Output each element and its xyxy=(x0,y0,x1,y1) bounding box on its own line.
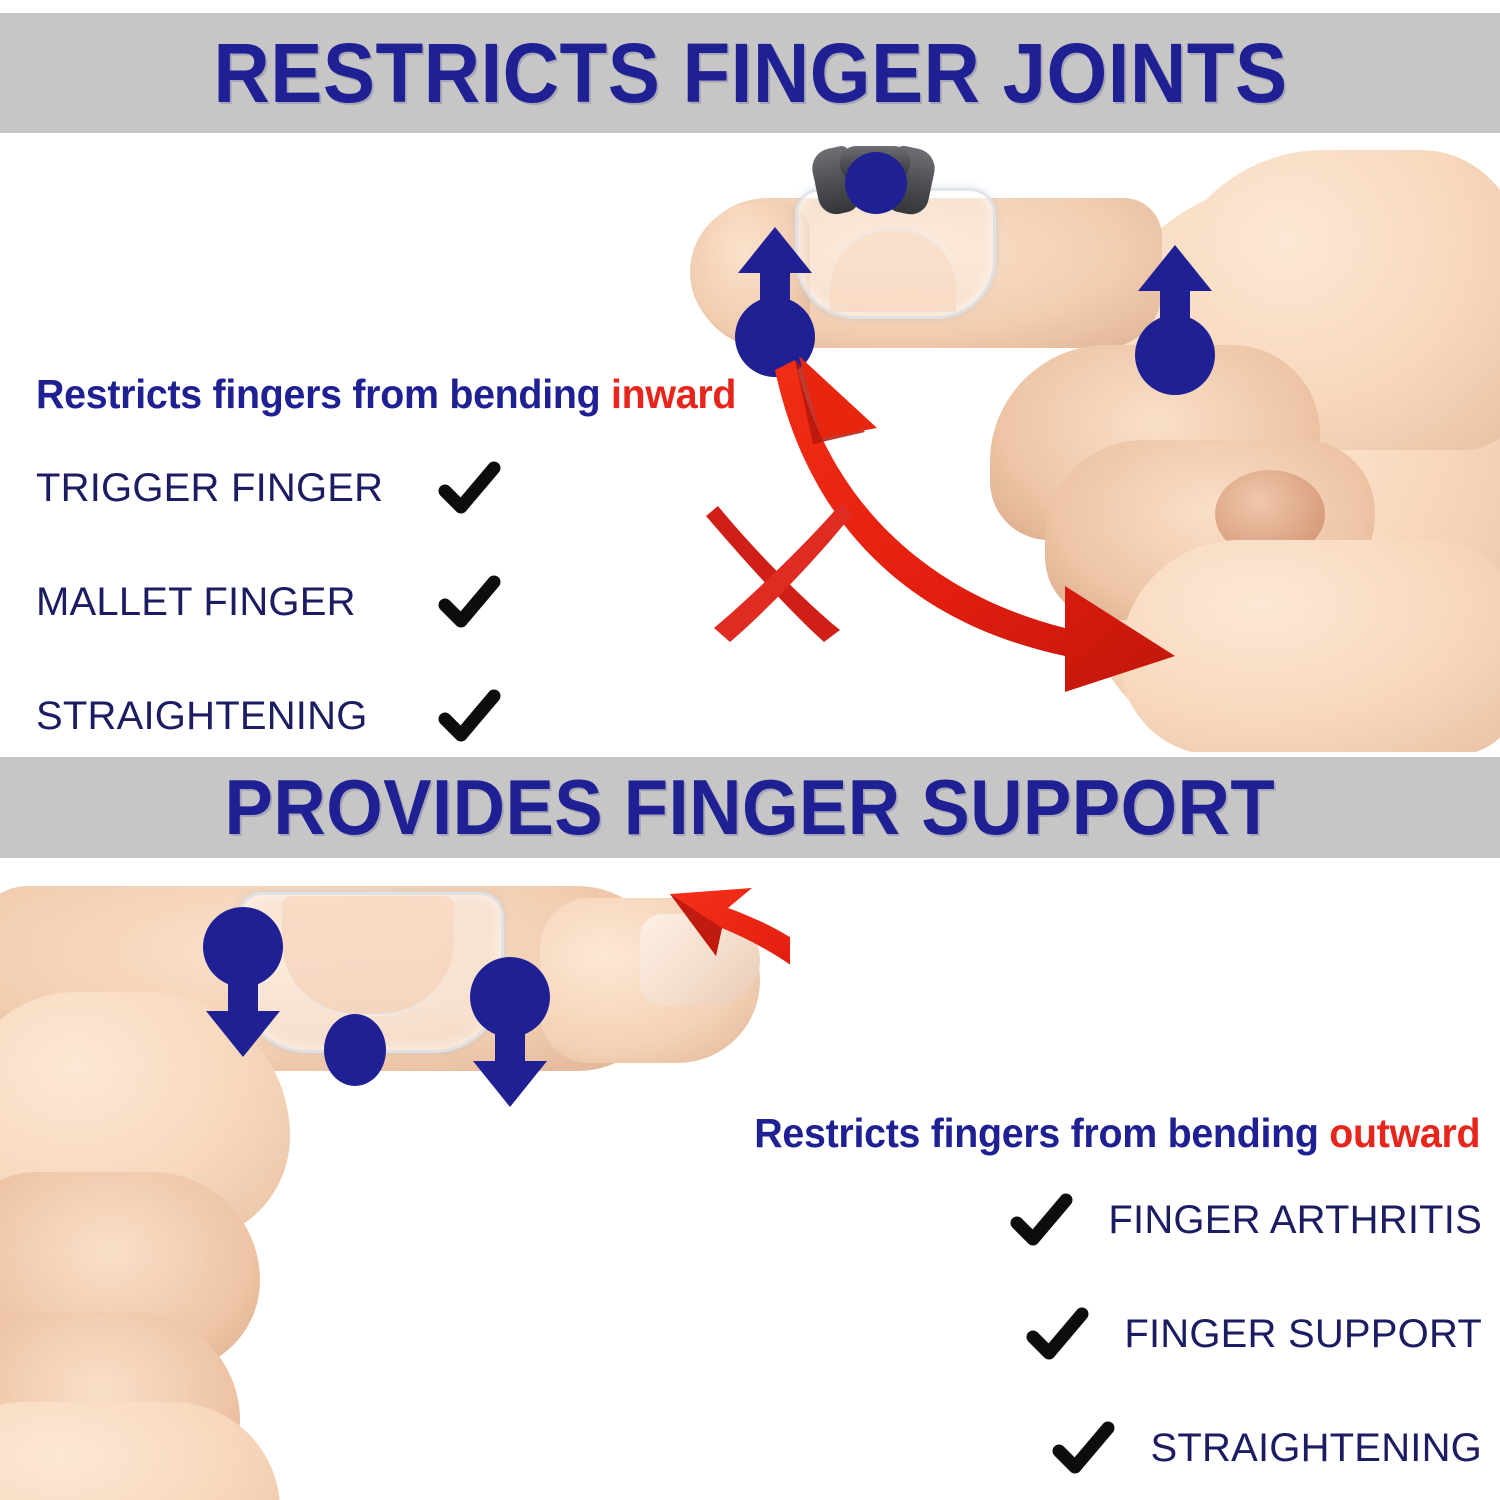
photo-bent-finger-with-splint xyxy=(690,140,1500,752)
headline-bottom-accent: outward xyxy=(1329,1110,1480,1156)
checklist-outward: FINGER ARTHRITIS FINGER SUPPORT STRAIGHT… xyxy=(1008,1182,1482,1486)
checklist-label-finger-support: FINGER SUPPORT xyxy=(1124,1312,1482,1357)
red-curved-arrow-up-icon xyxy=(660,872,790,1032)
headline-top-accent: inward xyxy=(611,371,736,417)
headline-bottom-prefix: Restricts fingers from bending xyxy=(754,1110,1329,1156)
blue-down-arrow-right xyxy=(455,954,565,1109)
headline-top-prefix: Restricts fingers from bending xyxy=(36,371,611,417)
check-icon xyxy=(1008,1192,1074,1248)
red-x-mark-icon xyxy=(700,492,860,642)
list-item: FINGER ARTHRITIS xyxy=(1008,1182,1482,1258)
banner-provides-finger-support: PROVIDES FINGER SUPPORT xyxy=(0,757,1500,858)
list-item: TRIGGER FINGER xyxy=(36,450,502,526)
blue-dot-on-clip xyxy=(845,152,907,214)
list-item: MALLET FINGER xyxy=(36,564,502,640)
banner-top-title: RESTRICTS FINGER JOINTS xyxy=(213,25,1287,122)
checklist-label-straightening: STRAIGHTENING xyxy=(36,694,436,739)
checklist-inward: TRIGGER FINGER MALLET FINGER STRAIGHTENI… xyxy=(36,450,502,754)
checklist-label-straightening: STRAIGHTENING xyxy=(1150,1426,1482,1471)
checklist-label-mallet-finger: MALLET FINGER xyxy=(36,580,436,625)
check-icon xyxy=(436,688,502,744)
banner-bottom-title: PROVIDES FINGER SUPPORT xyxy=(225,762,1276,853)
check-icon xyxy=(1050,1420,1116,1476)
checklist-label-finger-arthritis: FINGER ARTHRITIS xyxy=(1108,1198,1482,1243)
list-item: STRAIGHTENING xyxy=(36,678,502,754)
check-icon xyxy=(1024,1306,1090,1362)
check-icon xyxy=(436,460,502,516)
checklist-label-trigger-finger: TRIGGER FINGER xyxy=(36,466,436,511)
infographic-page: RESTRICTS FINGER JOINTS xyxy=(0,0,1500,1500)
headline-restricts-inward: Restricts fingers from bending inward xyxy=(36,371,736,418)
check-icon xyxy=(436,574,502,630)
headline-restricts-outward: Restricts fingers from bending outward xyxy=(754,1110,1480,1157)
list-item: FINGER SUPPORT xyxy=(1008,1296,1482,1372)
photo-straight-finger-with-splint xyxy=(0,862,790,1500)
blue-down-arrow-left xyxy=(188,904,298,1059)
splint-inner-opening xyxy=(282,896,454,1016)
blue-dot-under-splint xyxy=(324,1014,386,1086)
banner-restricts-finger-joints: RESTRICTS FINGER JOINTS xyxy=(0,13,1500,133)
list-item: STRAIGHTENING xyxy=(1008,1410,1482,1486)
